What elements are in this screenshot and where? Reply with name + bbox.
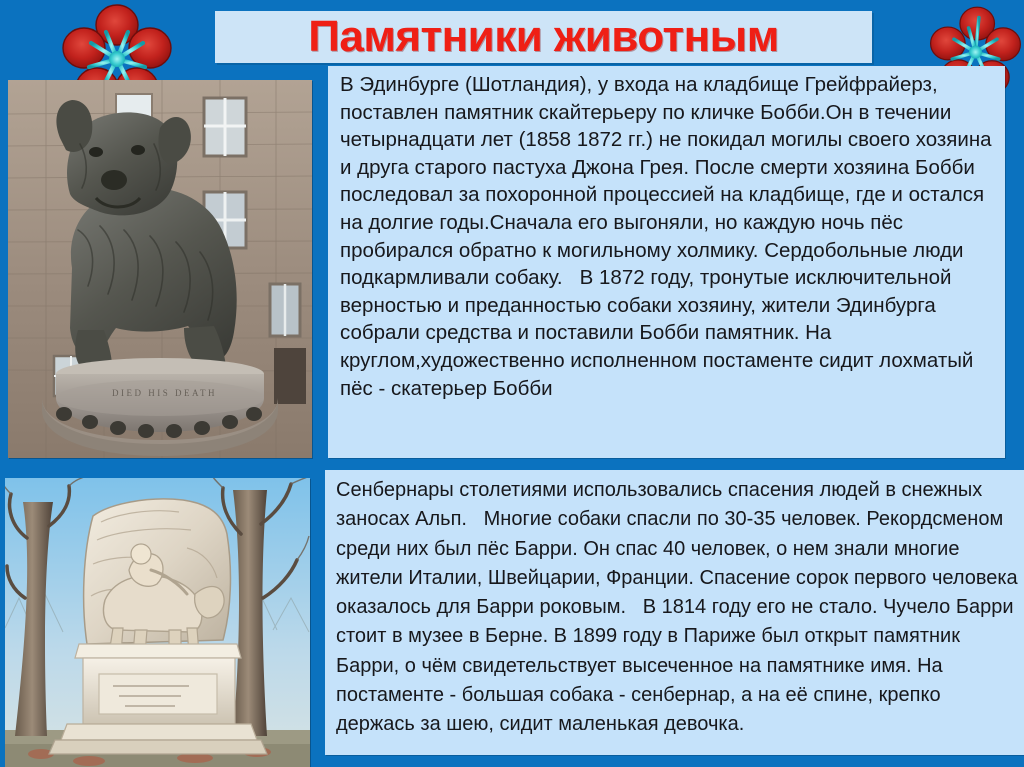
- page-title: Памятники животным: [308, 15, 779, 59]
- barry-saint-bernard-monument-photo: [5, 478, 310, 767]
- greyfriars-bobby-statue-photo: DIED HIS DEATH: [8, 80, 312, 458]
- barry-text-block: Сенбернары столетиями использовались спа…: [325, 470, 1024, 755]
- svg-text:DIED HIS DEATH: DIED HIS DEATH: [112, 388, 217, 398]
- bobby-paragraph: В Эдинбурге (Шотландия), у входа на клад…: [340, 71, 997, 402]
- slide-title-banner: Памятники животным: [215, 11, 872, 63]
- bobby-text-block: В Эдинбурге (Шотландия), у входа на клад…: [328, 66, 1005, 458]
- slide-canvas: Памятники животным: [0, 0, 1024, 767]
- barry-paragraph: Сенбернары столетиями использовались спа…: [336, 476, 1018, 740]
